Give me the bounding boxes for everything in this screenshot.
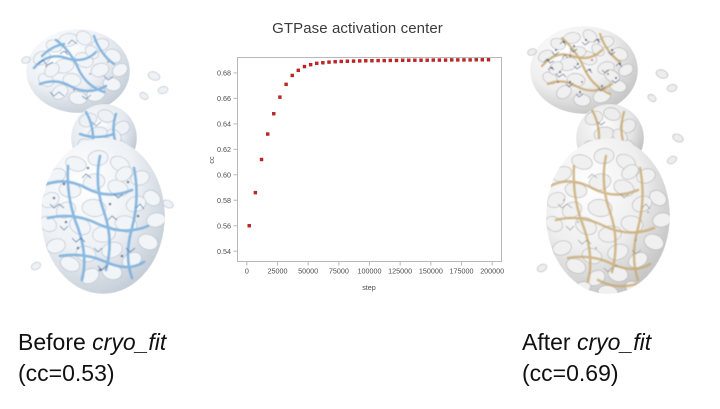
x-tick-label: 175000 <box>450 267 474 276</box>
data-point <box>383 59 386 62</box>
data-point <box>462 58 465 61</box>
data-point <box>248 224 251 227</box>
data-point <box>450 58 453 61</box>
x-axis-ticks: 0250005000075000100000125000150000175000… <box>245 262 504 276</box>
x-tick-label: 200000 <box>480 267 504 276</box>
caption-after-italic: cryo_fit <box>577 329 651 355</box>
data-point <box>420 59 423 62</box>
data-point <box>266 133 269 136</box>
data-point <box>444 59 447 62</box>
plot-area: 0.540.560.580.600.620.640.660.68 0250005… <box>205 10 510 300</box>
data-point <box>278 96 281 99</box>
data-point <box>352 60 355 63</box>
data-point <box>254 191 257 194</box>
caption-after: After cryo_fit (cc=0.69) <box>522 327 651 389</box>
data-point <box>328 61 331 64</box>
data-point <box>432 59 435 62</box>
y-tick-label: 0.66 <box>217 94 231 103</box>
y-tick-label: 0.62 <box>217 145 231 154</box>
data-point <box>395 59 398 62</box>
x-tick-label: 25000 <box>267 267 287 276</box>
caption-after-prefix: After <box>522 329 577 355</box>
y-tick-label: 0.60 <box>217 170 231 179</box>
data-point <box>475 58 478 61</box>
molecule-render-before <box>8 8 208 318</box>
x-tick-label: 50000 <box>298 267 318 276</box>
x-axis-title: step <box>362 283 376 292</box>
data-point <box>260 158 263 161</box>
caption-before-italic: cryo_fit <box>92 329 166 355</box>
x-tick-label: 125000 <box>388 267 412 276</box>
data-point <box>272 112 275 115</box>
data-point <box>321 61 324 64</box>
data-point <box>340 60 343 63</box>
data-point <box>303 65 306 68</box>
y-tick-label: 0.56 <box>217 221 231 230</box>
data-point <box>401 59 404 62</box>
data-point <box>358 59 361 62</box>
y-tick-label: 0.54 <box>217 247 231 256</box>
scatter-series-cc <box>248 58 490 227</box>
cryo-em-image-before <box>8 8 208 318</box>
data-point <box>389 59 392 62</box>
cc-vs-step-chart: GTPase activation center 0.540.560.580.6… <box>205 10 510 300</box>
data-point <box>426 59 429 62</box>
molecule-render-after <box>512 8 712 318</box>
data-point <box>456 58 459 61</box>
data-point <box>309 63 312 66</box>
y-axis-title: cc <box>207 156 216 164</box>
data-point <box>469 58 472 61</box>
x-tick-label: 100000 <box>358 267 382 276</box>
caption-before: Before cryo_fit (cc=0.53) <box>18 327 166 389</box>
data-point <box>315 62 318 65</box>
data-point <box>297 69 300 72</box>
data-point <box>364 59 367 62</box>
data-point <box>413 59 416 62</box>
cryo-em-image-after <box>512 8 712 318</box>
x-tick-label: 150000 <box>419 267 443 276</box>
y-tick-label: 0.58 <box>217 196 231 205</box>
data-point <box>291 74 294 77</box>
caption-before-prefix: Before <box>18 329 92 355</box>
y-tick-label: 0.68 <box>217 69 231 78</box>
y-axis-ticks: 0.540.560.580.600.620.640.660.68 <box>217 69 237 256</box>
caption-before-cc: (cc=0.53) <box>18 358 166 389</box>
data-point <box>487 58 490 61</box>
data-point <box>334 60 337 63</box>
data-point <box>407 59 410 62</box>
data-point <box>370 59 373 62</box>
caption-after-cc: (cc=0.69) <box>522 358 651 389</box>
data-point <box>438 59 441 62</box>
data-point <box>346 60 349 63</box>
x-tick-label: 0 <box>245 267 249 276</box>
data-point <box>377 59 380 62</box>
x-tick-label: 75000 <box>329 267 349 276</box>
data-point <box>481 58 484 61</box>
data-point <box>285 83 288 86</box>
y-tick-label: 0.64 <box>217 119 231 128</box>
